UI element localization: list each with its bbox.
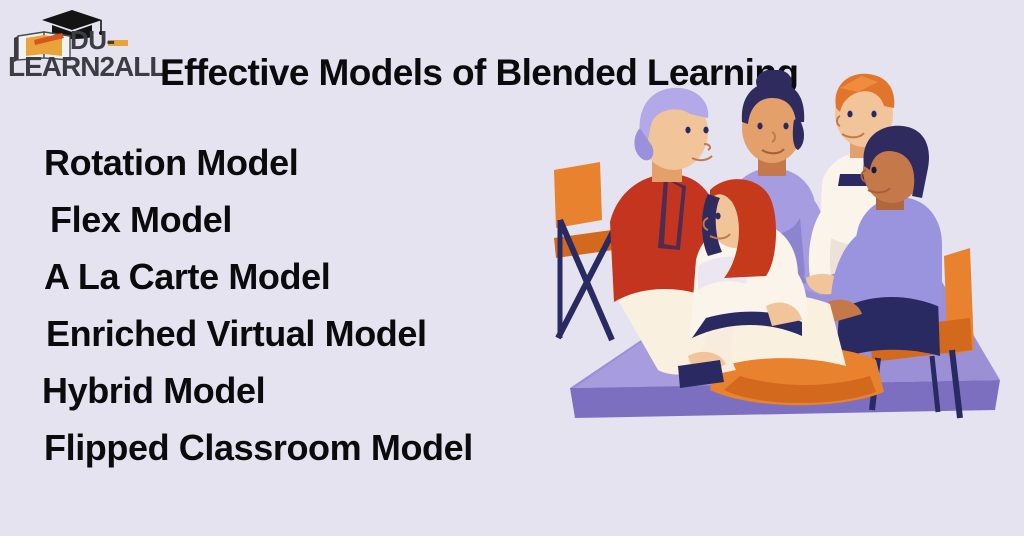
edu-learn2all-logo[interactable]: DU- LEARN2ALL [4,2,166,80]
logo-text-line2: LEARN2ALL [8,51,166,80]
list-item: Flex Model [0,191,560,248]
list-item: Flipped Classroom Model [0,419,560,476]
list-item: Rotation Model [0,134,560,191]
list-item: Hybrid Model [0,362,560,419]
blended-learning-model-list: Rotation Model Flex Model A La Carte Mod… [0,134,560,476]
list-item: Enriched Virtual Model [0,305,560,362]
list-item: A La Carte Model [0,248,560,305]
group-discussion-illustration [540,70,1010,450]
poster-canvas: DU- LEARN2ALL Effective Models of Blende… [0,0,1024,536]
